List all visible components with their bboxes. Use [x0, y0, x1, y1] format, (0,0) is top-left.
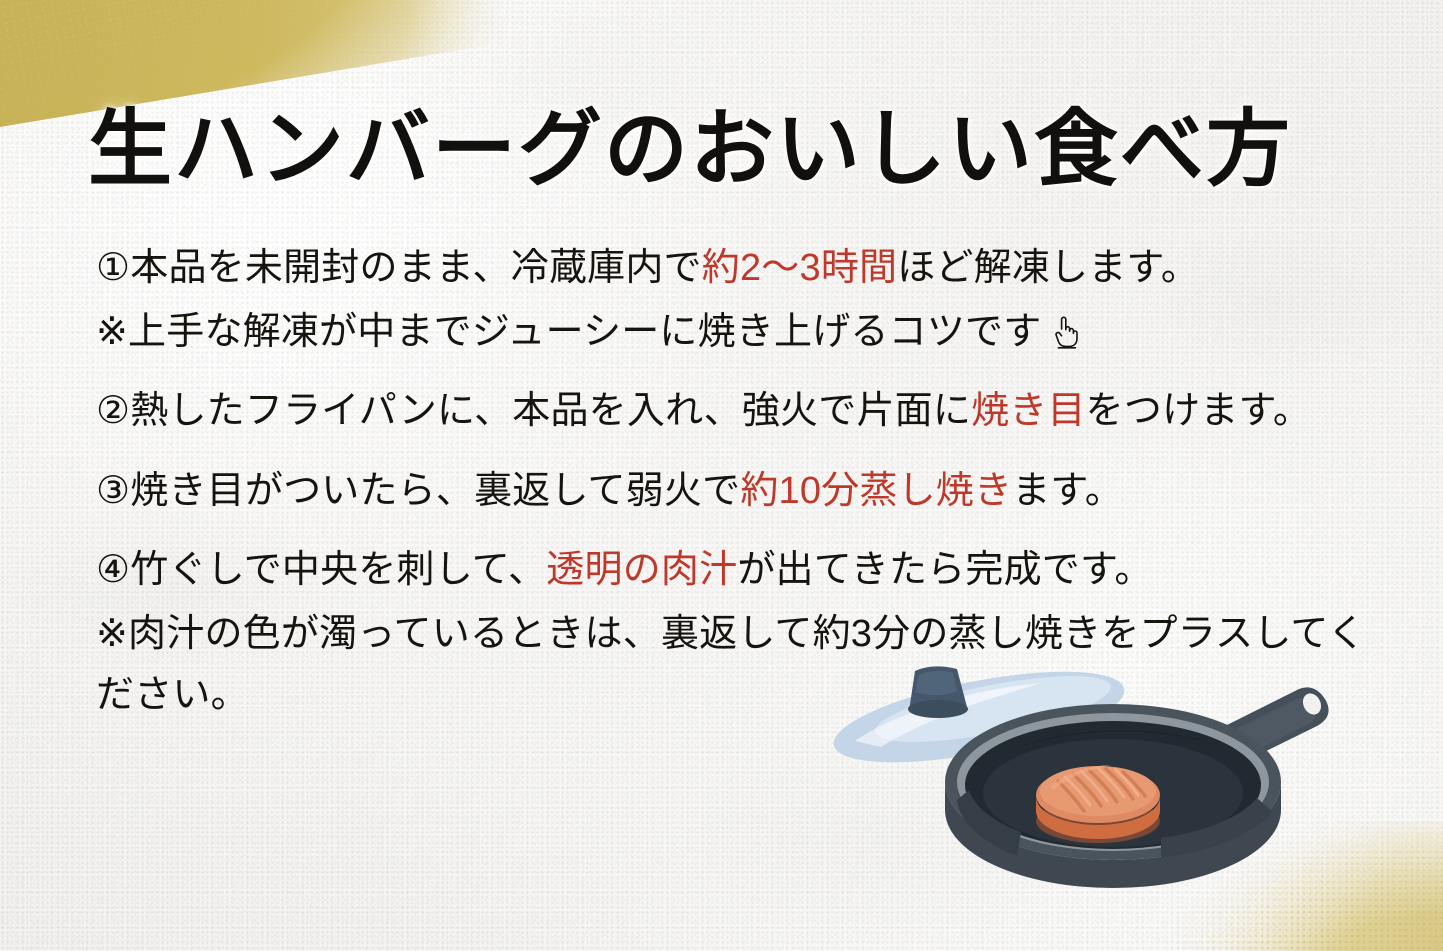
step-2-line: ②熱したフライパンに、本品を入れ、強火で片面に焼き目をつけます。: [96, 381, 1386, 443]
step-4-line: ④竹ぐしで中央を刺して、透明の肉汁が出てきたら完成です。: [96, 540, 1386, 602]
recipe-card: 生ハンバーグのおいしい食べ方 ①本品を未開封のまま、冷蔵庫内で約2〜3時間ほど解…: [0, 0, 1443, 951]
step-1-highlight: 約2〜3時間: [702, 247, 897, 289]
step-4-text-b: が出てきたら完成です。: [737, 549, 1152, 591]
step-2-text-b: をつけます。: [1086, 390, 1311, 432]
note-1-line: ※上手な解凍が中までジューシーに焼き上げるコツです: [96, 302, 1386, 364]
step-2-text-a: ②熱したフライパンに、本品を入れ、強火で片面に: [96, 390, 971, 432]
step-1-line: ①本品を未開封のまま、冷蔵庫内で約2〜3時間ほど解凍します。: [96, 238, 1386, 300]
step-4-text-a: ④竹ぐしで中央を刺して、: [96, 549, 546, 591]
step-1-text-a: ①本品を未開封のまま、冷蔵庫内で: [96, 247, 702, 289]
step-3-highlight: 約10分蒸し焼き: [740, 470, 1012, 512]
page-title: 生ハンバーグのおいしい食べ方: [88, 82, 1292, 203]
step-3-text-b: ます。: [1012, 470, 1123, 512]
step-3-line: ③焼き目がついたら、裏返して弱火で約10分蒸し焼きます。: [96, 461, 1386, 523]
note-1-text: ※上手な解凍が中までジューシーに焼き上げるコツです: [96, 311, 1041, 353]
step-3-text-a: ③焼き目がついたら、裏返して弱火で: [96, 470, 740, 512]
step-1-text-b: ほど解凍します。: [897, 247, 1199, 289]
frying-pan-illustration: [815, 655, 1415, 945]
lid-knob-icon: [908, 666, 968, 718]
hamburg-patty-icon: [1036, 765, 1160, 843]
pointing-hand-icon: [1049, 308, 1079, 344]
step-4-highlight: 透明の肉汁: [546, 549, 737, 591]
step-2-highlight: 焼き目: [971, 390, 1086, 432]
